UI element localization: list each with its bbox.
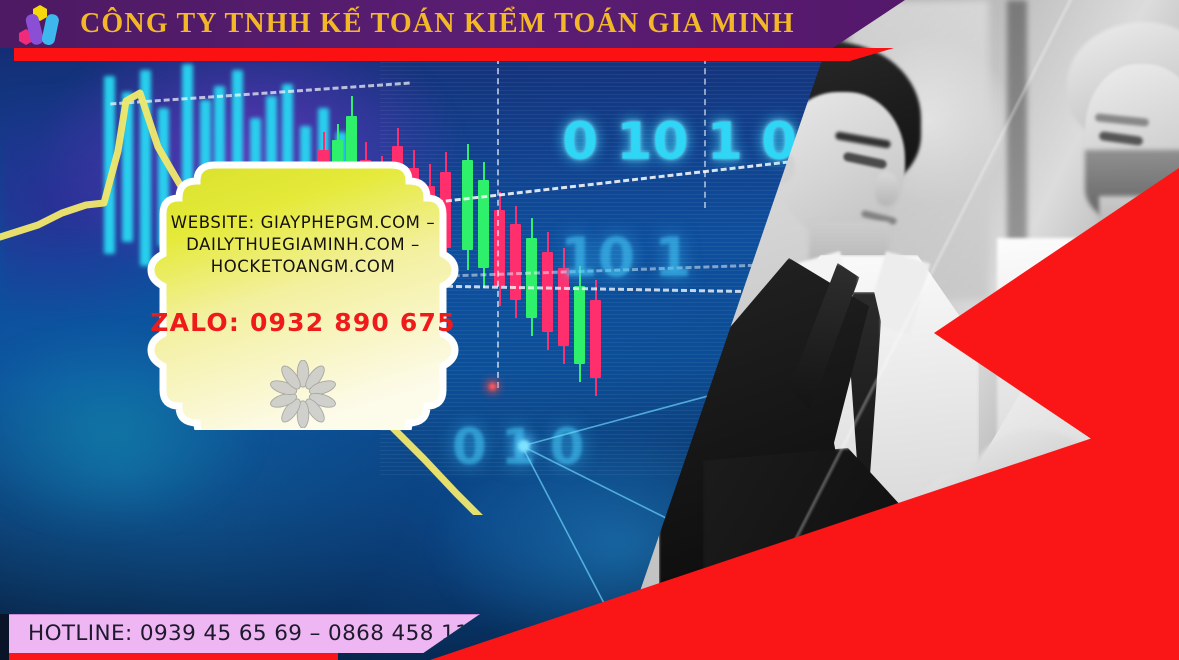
candlestick: [494, 192, 505, 306]
hotline-bar: HOTLINE: 0939 45 65 69 – 0868 458 111: [8, 614, 480, 653]
candlestick: [542, 232, 553, 350]
hotline-red-underline: [8, 652, 338, 660]
zalo-contact[interactable]: ZALO: 0932 890 675: [141, 308, 465, 337]
candlestick: [510, 206, 521, 318]
network-node: [518, 440, 530, 452]
candlestick: [526, 218, 537, 336]
candlestick: [590, 280, 601, 396]
network-node-red: [489, 383, 496, 390]
contact-badge: WEBSITE: GIAYPHEPGM.COM – DAILYTHUEGIAMI…: [133, 150, 473, 430]
flower-ornament-icon: [269, 360, 337, 428]
banner-canvas: 0 10 1 0 10 1 010: [0, 0, 1179, 660]
binary-digits-row1: 0 10 1 0: [562, 112, 797, 172]
candlestick: [478, 162, 489, 288]
header-red-underline: [14, 48, 894, 61]
dashed-guide-line: [497, 58, 499, 388]
binary-digits-row2: 10 1: [560, 226, 692, 289]
gia-minh-logo-icon: [14, 4, 70, 48]
badge-website-line-3: HOCKETOANGM.COM: [145, 256, 461, 278]
hotline-text[interactable]: HOTLINE: 0939 45 65 69 – 0868 458 111: [28, 615, 483, 653]
cyan-bar: [122, 92, 133, 242]
badge-website-line-2: DAILYTHUEGIAMINH.COM –: [145, 234, 461, 256]
badge-website-line-1: WEBSITE: GIAYPHEPGM.COM –: [145, 212, 461, 234]
hotline-left-cap: [0, 614, 9, 660]
page-title: CÔNG TY TNHH KẾ TOÁN KIỂM TOÁN GIA MINH: [80, 0, 795, 48]
